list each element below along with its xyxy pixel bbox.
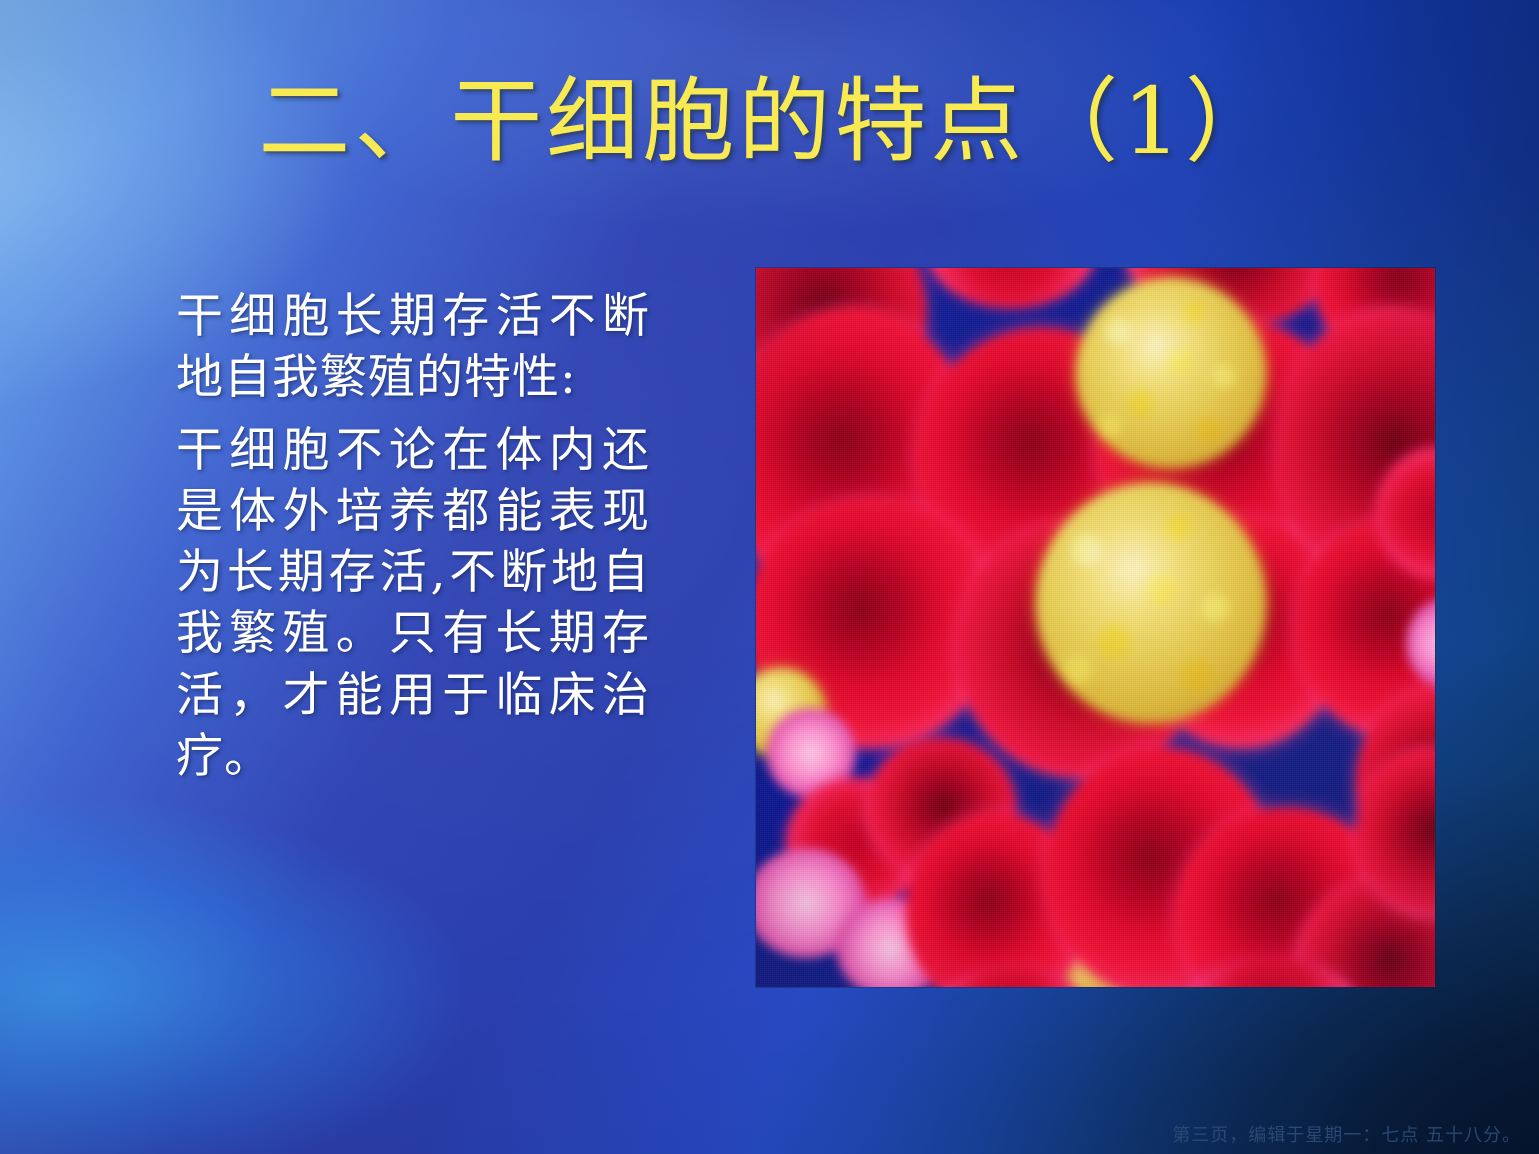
- body-paragraph-1: 干细胞长期存活不断地自我繁殖的特性:: [176, 286, 650, 408]
- cell-cluster: [756, 268, 1435, 987]
- cell-rbc: [926, 268, 1096, 308]
- cell-wbc-texture: [1076, 278, 1266, 468]
- slide-canvas: 二、干细胞的特点（1） 干细胞长期存活不断地自我繁殖的特性: 干细胞不论在体内还…: [0, 0, 1539, 1154]
- body-text-block: 干细胞长期存活不断地自我繁殖的特性: 干细胞不论在体内还是体外培养都能表现为长期…: [176, 286, 650, 787]
- slide-title: 二、干细胞的特点（1）: [0, 72, 1539, 171]
- photo-cell-layer: [756, 268, 1435, 987]
- blood-cells-photo: [756, 268, 1435, 987]
- slide-footer-note: 第三页，编辑于星期一：七点 五十八分。: [1172, 1121, 1521, 1147]
- body-paragraph-2: 干细胞不论在体内还是体外培养都能表现为长期存活,不断地自我繁殖。只有长期存活，才…: [176, 420, 650, 787]
- cell-wbc-texture: [1036, 483, 1266, 723]
